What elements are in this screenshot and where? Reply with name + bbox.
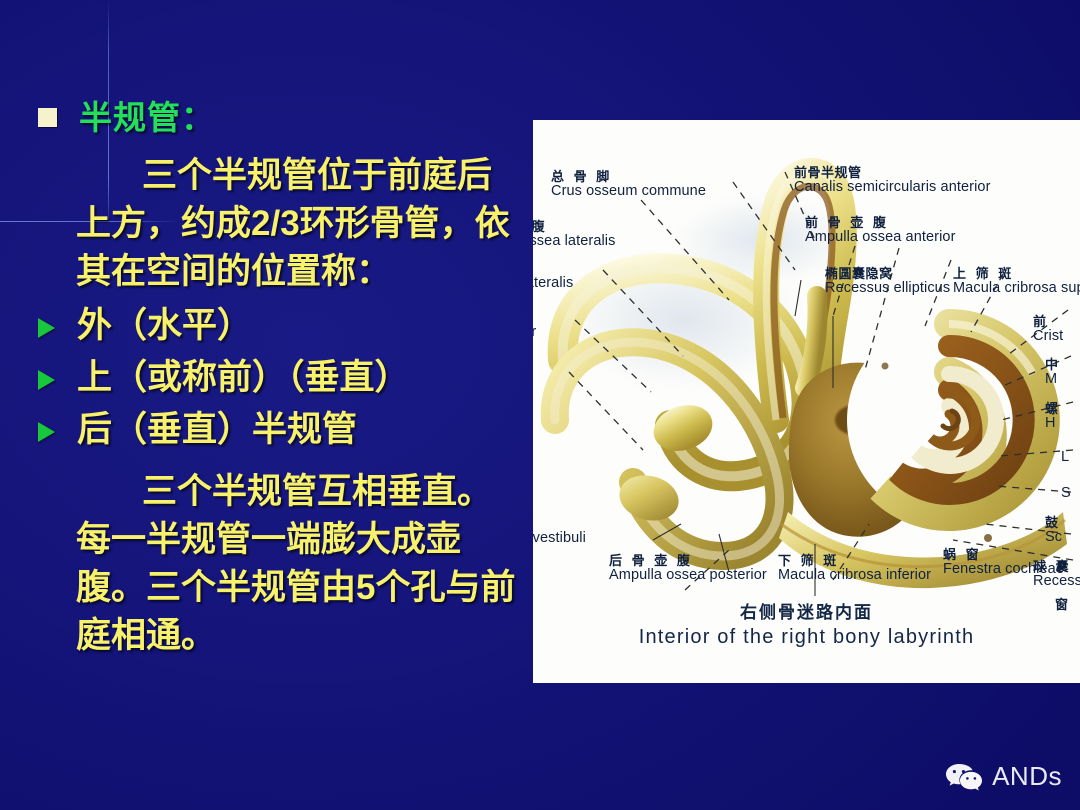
- figure-label-ampulla-ossea-posterior: 后 骨 壶 腹 Ampulla ossea posterior: [609, 554, 767, 584]
- arrow-bullet-icon: [38, 318, 55, 338]
- figure-label-canalis-semicircularis-anterior: 前骨半规管 Canalis semicircularis anterior: [794, 166, 991, 196]
- anatomy-illustration: 总 骨 脚 Crus osseum commune 壶 腹 a ossea la…: [533, 120, 1080, 683]
- text-column: 半规管： 三个半规管位于前庭后上方，约成2/3环形骨管，依其在空间的位置称： 外…: [0, 98, 534, 718]
- label-cn: 下 筛 斑: [778, 554, 931, 568]
- paragraph-two: 三个半规管互相垂直。每一半规管一端膨大成壶腹。三个半规管由5个孔与前庭相通。: [0, 468, 534, 660]
- label-la: S: [1061, 486, 1071, 502]
- label-la: us vestibuli: [533, 531, 586, 547]
- figure-label-modiolus-clipped: 中 M: [1045, 358, 1061, 388]
- square-bullet-icon: [38, 108, 57, 127]
- arrow-bullet-icon: [38, 422, 55, 442]
- figure-label-recessus-vestibuli: us vestibuli: [533, 531, 586, 547]
- label-cn: 总 骨 脚: [551, 170, 706, 184]
- list-item: 外（水平）: [0, 302, 534, 354]
- watermark-label: ANDs: [992, 761, 1062, 792]
- caption-cn: 右侧骨迷路内面: [533, 598, 1080, 623]
- heading-row: 半规管：: [0, 98, 534, 144]
- figure-label-recessus-ellipticus: 椭圆囊隐窝 Recessus ellipticus: [825, 267, 950, 297]
- paragraph-two-text: 三个半规管互相垂直。每一半规管一端膨大成壶腹。三个半规管由5个孔与前庭相通。: [76, 472, 515, 655]
- label-la: Crist: [1033, 329, 1063, 345]
- label-la: Macula cribrosa sup: [953, 281, 1080, 297]
- anatomy-figure-panel: 总 骨 脚 Crus osseum commune 壶 腹 a ossea la…: [533, 120, 1080, 683]
- figure-label-recessus-sphericus-clipped: 球 囊 Recessu: [1033, 560, 1080, 590]
- label-la: Ampulla ossea anterior: [805, 230, 956, 246]
- list-item: 上（或称前）（垂直）: [0, 354, 534, 406]
- label-cn: 前 骨 壶 腹: [805, 216, 956, 230]
- figure-label-crista-clipped: 前 Crist: [1033, 315, 1063, 345]
- label-la: Canalis semicircularis anterior: [794, 180, 991, 196]
- label-la: M: [1045, 372, 1061, 388]
- label-cn: 后 骨 壶 腹: [609, 554, 767, 568]
- figure-label-ampulla-ossea-anterior: 前 骨 壶 腹 Ampulla ossea anterior: [805, 216, 956, 246]
- figure-label-macula-cribrosa-superior: 上 筛 斑 Macula cribrosa sup: [953, 267, 1080, 297]
- label-la: s lateralis: [533, 276, 573, 292]
- label-la: L: [1061, 450, 1069, 466]
- list-item-label: 上（或称前）（垂直）: [77, 354, 410, 402]
- figure-label-scala-tympani-clipped: 鼓 Sc: [1045, 516, 1062, 546]
- label-la: H: [1045, 416, 1061, 432]
- label-la: Crus osseum commune: [551, 184, 706, 200]
- label-cn: 椭圆囊隐窝: [825, 267, 950, 281]
- label-la: a ossea lateralis: [533, 234, 615, 250]
- label-la: Recessu: [1033, 574, 1080, 590]
- label-la: Ampulla ossea posterior: [609, 568, 767, 584]
- label-cn: 鼓: [1045, 516, 1062, 530]
- label-cn: 前骨半规管: [794, 166, 991, 180]
- figure-label-helicotrema-clipped: 螺 H: [1045, 402, 1061, 432]
- label-cn: 上 筛 斑: [953, 267, 1080, 281]
- paragraph-one: 三个半规管位于前庭后上方，约成2/3环形骨管，依其在空间的位置称：: [0, 152, 534, 296]
- bullet-list: 外（水平） 上（或称前）（垂直） 后（垂直）半规管: [0, 302, 534, 458]
- figure-label-crus-osseum-commune: 总 骨 脚 Crus osseum commune: [551, 170, 706, 200]
- figure-caption: 右侧骨迷路内面 Interior of the right bony labyr…: [533, 598, 1080, 649]
- label-cn: 前: [1033, 315, 1063, 329]
- label-la: Macula cribrosa inferior: [778, 568, 931, 584]
- caption-la: Interior of the right bony labyrinth: [533, 626, 1080, 649]
- slide-canvas: 半规管： 三个半规管位于前庭后上方，约成2/3环形骨管，依其在空间的位置称： 外…: [0, 0, 1080, 810]
- wechat-watermark: ANDs: [945, 761, 1062, 792]
- label-cn: 中: [1045, 358, 1061, 372]
- arrow-bullet-icon: [38, 370, 55, 390]
- figure-label-ampulla-ossea-lateralis: 壶 腹 a ossea lateralis: [533, 220, 615, 250]
- slide-heading: 半规管：: [79, 98, 215, 138]
- label-cn: 壶 腹: [533, 220, 615, 234]
- figure-label-posterior-clipped: rior: [533, 325, 536, 341]
- figure-label-lamina-clipped: L: [1061, 450, 1069, 466]
- list-item: 后（垂直）半规管: [0, 406, 534, 458]
- list-item-label: 外（水平）: [77, 302, 252, 350]
- list-item-label: 后（垂直）半规管: [77, 406, 357, 454]
- figure-label-macula-cribrosa-inferior: 下 筛 斑 Macula cribrosa inferior: [778, 554, 931, 584]
- label-cn: 螺: [1045, 402, 1061, 416]
- label-la: rior: [533, 325, 536, 341]
- paragraph-one-text: 三个半规管位于前庭后上方，约成2/3环形骨管，依其在空间的位置称：: [76, 156, 510, 291]
- label-la: Recessus ellipticus: [825, 281, 950, 297]
- label-la: Sc: [1045, 530, 1062, 546]
- label-cn: 球 囊: [1033, 560, 1080, 574]
- figure-label-canalis-lateralis: s lateralis: [533, 276, 573, 292]
- wechat-icon: [945, 762, 983, 792]
- figure-label-scala-clipped: S: [1061, 486, 1071, 502]
